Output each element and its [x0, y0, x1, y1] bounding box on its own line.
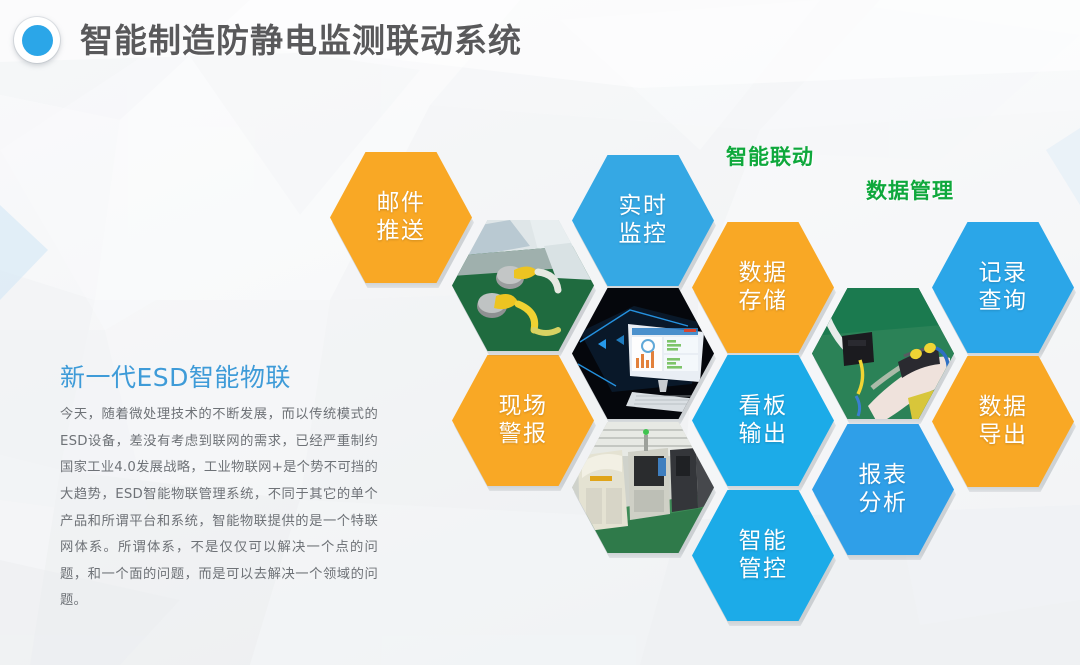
slide-canvas: 智能制造防静电监测联动系统 智能联动 数据管理 邮件 推送实时 监控数据 存储记… [0, 0, 1080, 665]
hex-label-realtime-monitor: 实时 监控 [619, 193, 668, 247]
intro-heading: 新一代ESD智能物联 [60, 362, 378, 393]
caption-intelligent-linkage: 智能联动 [726, 141, 814, 171]
hex-label-mail-push: 邮件 推送 [377, 190, 426, 244]
page-header: 智能制造防静电监测联动系统 [0, 0, 1080, 80]
hex-label-data-export: 数据 导出 [979, 394, 1028, 448]
intro-copy-block: 新一代ESD智能物联 今天，随着微处理技术的不断发展，而以传统模式的ESD设备，… [60, 362, 378, 615]
hex-label-board-output: 看板 输出 [739, 393, 788, 447]
blue-circle-icon [14, 17, 60, 63]
hex-label-report-analysis: 报表 分析 [859, 462, 908, 516]
intro-paragraph: 今天，随着微处理技术的不断发展，而以传统模式的ESD设备，差没有考虑到联网的需求… [60, 402, 378, 615]
blue-dot [22, 25, 53, 56]
hex-label-record-query: 记录 查询 [979, 260, 1028, 314]
page-title: 智能制造防静电监测联动系统 [80, 24, 522, 57]
hex-label-data-storage: 数据 存储 [739, 260, 788, 314]
hex-label-smart-control: 智能 管控 [739, 528, 788, 582]
caption-data-management: 数据管理 [866, 175, 954, 205]
hex-label-site-alarm: 现场 警报 [499, 393, 548, 447]
